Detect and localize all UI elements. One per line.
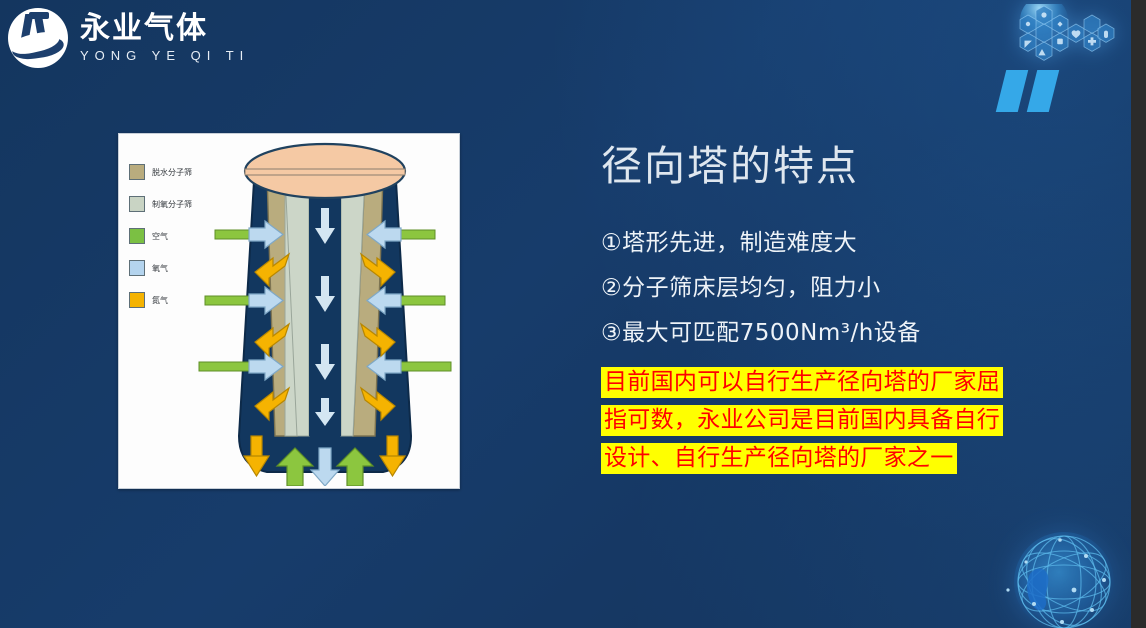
right-edge-strip [1131, 0, 1146, 628]
legend-swatch-nitrogen [129, 292, 145, 308]
highlight-line-3: 设计、自行生产径向塔的厂家之一 [601, 443, 957, 474]
legend-swatch-oxygen [129, 260, 145, 276]
legend-label: 制氧分子筛 [152, 199, 192, 210]
legend-label: 空气 [152, 231, 168, 242]
tower-cross-section-illustration [197, 136, 453, 486]
company-logo: 永业气体 YONG YE QI TI [8, 8, 249, 68]
globe-network-icon [1000, 518, 1128, 628]
logo-mark-icon [8, 8, 68, 68]
logo-text: 永业气体 YONG YE QI TI [80, 13, 249, 63]
logo-name-cn: 永业气体 [80, 13, 249, 45]
slide-content: 径向塔的特点 ①塔形先进，制造难度大 ②分子筛床层均匀，阻力小 ③最大可匹配75… [601, 143, 1071, 481]
highlight-line-2: 指可数，永业公司是目前国内具备自行 [601, 405, 1003, 436]
quote-mark-decoration [1001, 70, 1054, 112]
highlight-line-1: 目前国内可以自行生产径向塔的厂家屈 [601, 367, 1003, 398]
logo-name-en: YONG YE QI TI [80, 48, 249, 63]
legend-swatch-air [129, 228, 145, 244]
radial-tower-diagram-panel: 脱水分子筛 制氧分子筛 空气 氧气 氮气 [118, 133, 460, 489]
legend-swatch-oxygen-sieve [129, 196, 145, 212]
bullet-item-3: ③最大可匹配7500Nm³/h设备 [601, 322, 1071, 345]
legend-label: 氮气 [152, 295, 168, 306]
legend-swatch-dehydration-sieve [129, 164, 145, 180]
presentation-slide: 永业气体 YONG YE QI TI [0, 0, 1146, 628]
page-title: 径向塔的特点 [601, 143, 1071, 190]
bullet-item-1: ①塔形先进，制造难度大 [601, 232, 1071, 255]
bullet-item-2: ②分子筛床层均匀，阻力小 [601, 277, 1071, 300]
highlighted-callout: 目前国内可以自行生产径向塔的厂家屈 指可数，永业公司是目前国内具备自行 设计、自… [601, 367, 1071, 481]
legend-label: 氧气 [152, 263, 168, 274]
legend-label: 脱水分子筛 [152, 167, 192, 178]
hexagon-cluster-icon [1000, 4, 1118, 74]
